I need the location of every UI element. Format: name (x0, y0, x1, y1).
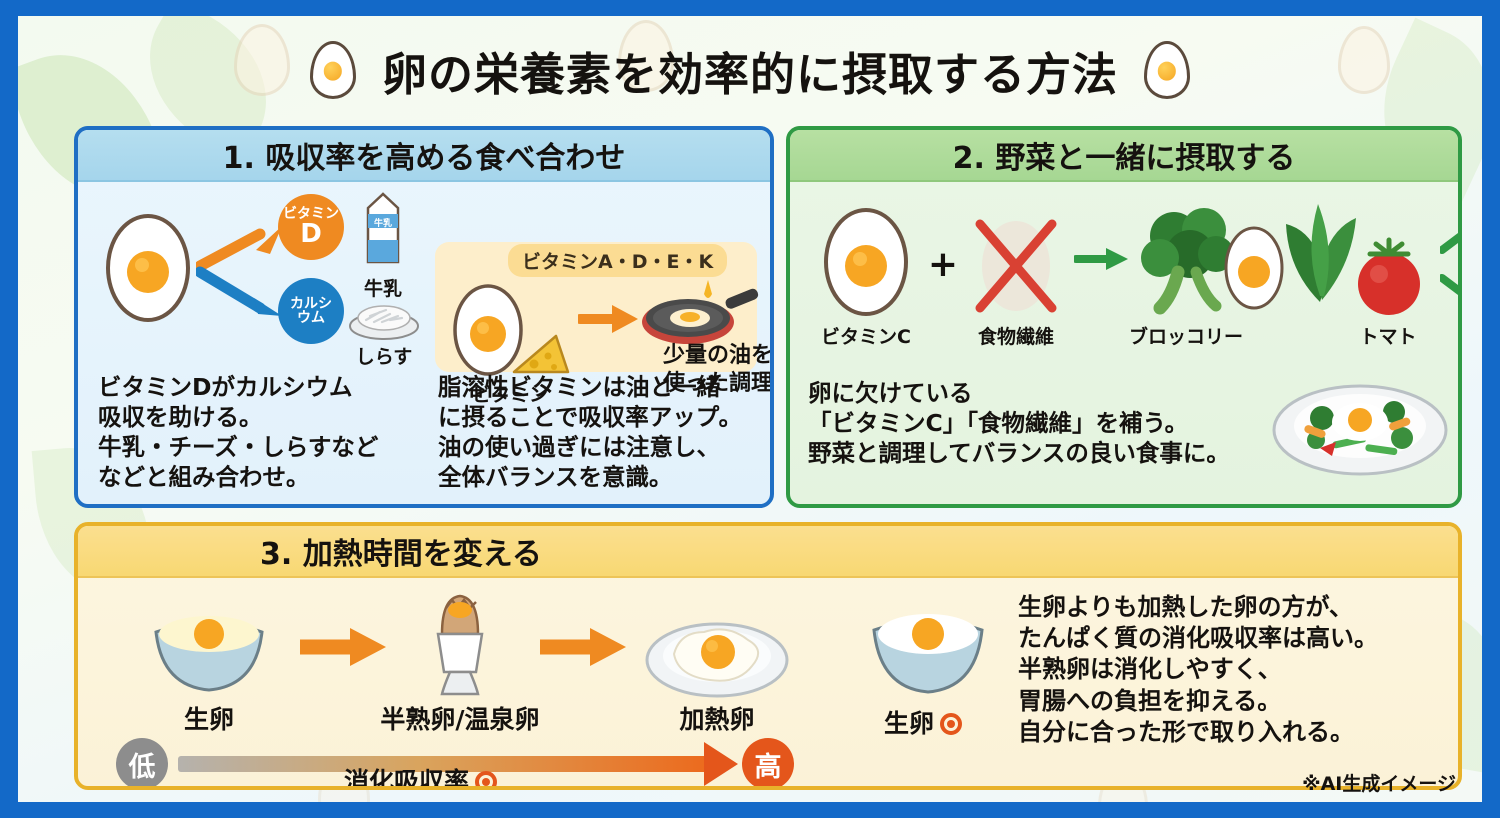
arrow-stage-2-icon (538, 626, 630, 668)
fried-egg-plate-icon (644, 602, 790, 702)
boiled-egg-icon (102, 208, 194, 324)
section-3-heading: 3. 加熱時間を変える (78, 526, 1458, 578)
section-2-heading: 2. 野菜と一緒に摂取する (790, 130, 1458, 182)
arrow-to-calcium-icon (196, 264, 286, 320)
section-2-text: 卵に欠けている 「ビタミンC」「食物繊維」を補う。 野菜と調理してバランスの良い… (808, 378, 1278, 468)
ai-generated-note: ※AI生成イメージ (1302, 769, 1456, 796)
vegetable-stirfry-plate-icon (1270, 364, 1450, 484)
section-3-text: 生卵よりも加熱した卵の方が、 たんぱく質の消化吸収率は高い。 半熟卵は消化しやす… (1018, 592, 1448, 748)
stage-2-label: 半熟卵/温泉卵 (380, 700, 539, 736)
milk-carton-icon: 牛乳 (354, 190, 412, 268)
double-circle-mark-icon (475, 771, 497, 790)
broccoli-label: ブロッコリー (1129, 322, 1243, 349)
low-badge: 低 (116, 738, 168, 790)
arrow-green-1-icon (1074, 244, 1132, 274)
section-1-absorption-combos: 1. 吸収率を高める食べ合わせ ビタミン D (74, 126, 774, 508)
double-circle-mark-icon (940, 713, 962, 735)
crossed-egg-icon (968, 206, 1064, 320)
arrow-green-up-icon (1440, 212, 1462, 258)
section-1-heading: 1. 吸収率を高める食べ合わせ (78, 130, 770, 182)
shirasu-plate-icon (346, 292, 422, 342)
tomato-label: トマト (1359, 322, 1416, 349)
page-title-row: 卵の栄養素を効率的に摂取する方法 (18, 30, 1482, 110)
soft-boiled-egg-cup-icon (412, 586, 508, 704)
section-1-right-text: 脂溶性ビタミンは油と一緒 に摂ることで吸収率アップ。 油の使い過ぎには注意し、 … (438, 372, 774, 492)
stage-3-label: 加熱卵 (679, 700, 754, 736)
plus-sign-icon: + (928, 244, 958, 285)
infographic-canvas: 卵の栄養素を効率的に摂取する方法 1. 吸収率を高める食べ合わせ (18, 16, 1482, 802)
absorption-arrow-head (704, 742, 738, 786)
absorption-scale-label: 消化吸収率 (344, 762, 497, 790)
boiled-egg-icon (818, 202, 914, 320)
page-title: 卵の栄養素を効率的に摂取する方法 (382, 38, 1118, 103)
arrow-stage-1-icon (298, 626, 390, 668)
arrow-to-cooking-icon (578, 302, 642, 336)
tomato-icon (1346, 236, 1432, 318)
section-1-left-text: ビタミンDがカルシウム 吸収を助ける。 牛乳・チーズ・しらすなど などと組み合わ… (98, 372, 428, 492)
section-3-cooking-time: 3. 加熱時間を変える 生卵 半熟卵/温泉卵 (74, 522, 1462, 790)
vitamin-c-source-label: ビタミンC (821, 322, 911, 349)
calcium-badge: カルシ ウム (278, 278, 344, 344)
raw-egg-bowl-icon (860, 596, 996, 704)
title-left-egg-icon (310, 41, 356, 99)
title-right-egg-icon (1144, 41, 1190, 99)
raw-egg-side-label: 生卵 (884, 704, 962, 740)
arrow-green-down-icon (1440, 270, 1462, 322)
fiber-missing-label: 食物繊維 (978, 322, 1054, 349)
section-2-eat-with-vegetables: 2. 野菜と一緒に摂取する ビタミンC + 食物繊維 (786, 126, 1462, 508)
high-badge: 高 (742, 738, 794, 790)
frying-pan-icon (638, 264, 760, 350)
raw-egg-bowl-icon (144, 598, 274, 702)
svg-text:牛乳: 牛乳 (374, 217, 392, 229)
stage-1-label: 生卵 (184, 700, 234, 736)
shirasu-label: しらす (356, 342, 413, 369)
vitamin-d-badge: ビタミン D (278, 194, 344, 260)
outer-blue-frame: 卵の栄養素を効率的に摂取する方法 1. 吸収率を高める食べ合わせ (0, 0, 1500, 818)
